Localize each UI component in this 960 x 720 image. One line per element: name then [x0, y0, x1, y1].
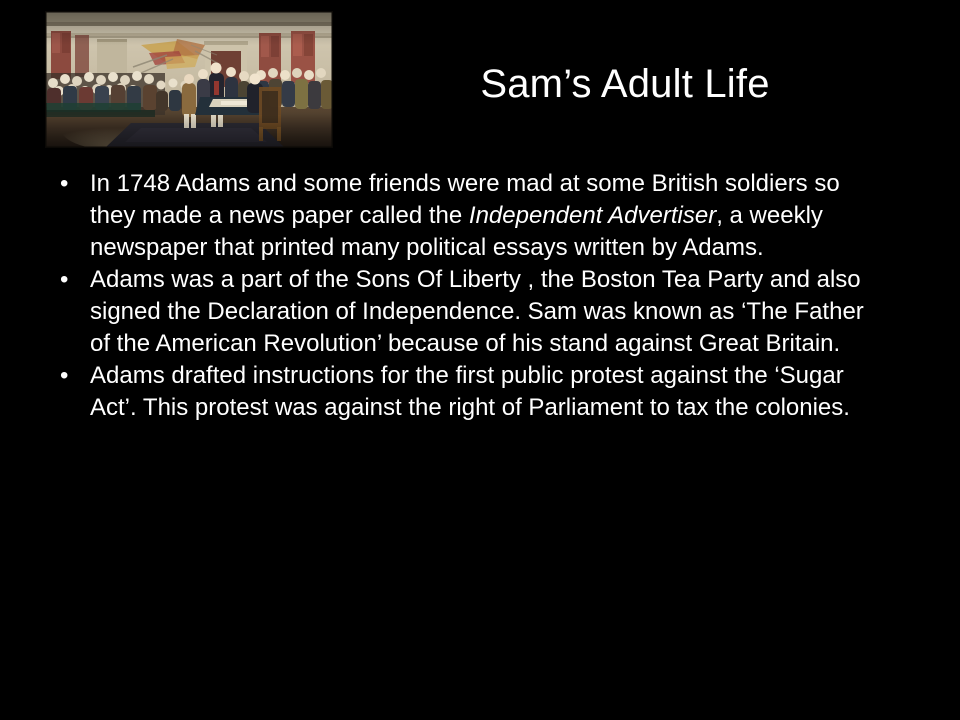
presentation-slide: Sam’s Adult Life • In 1748 Adams and som… [0, 0, 960, 720]
bullet-marker-icon: • [60, 264, 78, 296]
page-title: Sam’s Adult Life [345, 60, 905, 108]
list-item-text: Adams drafted instructions for the first… [90, 362, 850, 421]
list-item: • Adams drafted instructions for the fir… [56, 360, 886, 424]
list-item-text: Adams was a part of the Sons Of Liberty … [90, 266, 864, 357]
bullet-list: • In 1748 Adams and some friends were ma… [56, 168, 886, 424]
declaration-of-independence-painting [45, 11, 333, 148]
bullet-marker-icon: • [60, 168, 78, 200]
bullet-text-italic-part: Independent Advertiser [469, 202, 716, 229]
painting-artwork [45, 11, 333, 148]
list-item-text: In 1748 Adams and some friends were mad … [90, 170, 840, 261]
list-item: • Adams was a part of the Sons Of Libert… [56, 264, 886, 360]
bullet-marker-icon: • [60, 360, 78, 392]
list-item: • In 1748 Adams and some friends were ma… [56, 168, 886, 264]
